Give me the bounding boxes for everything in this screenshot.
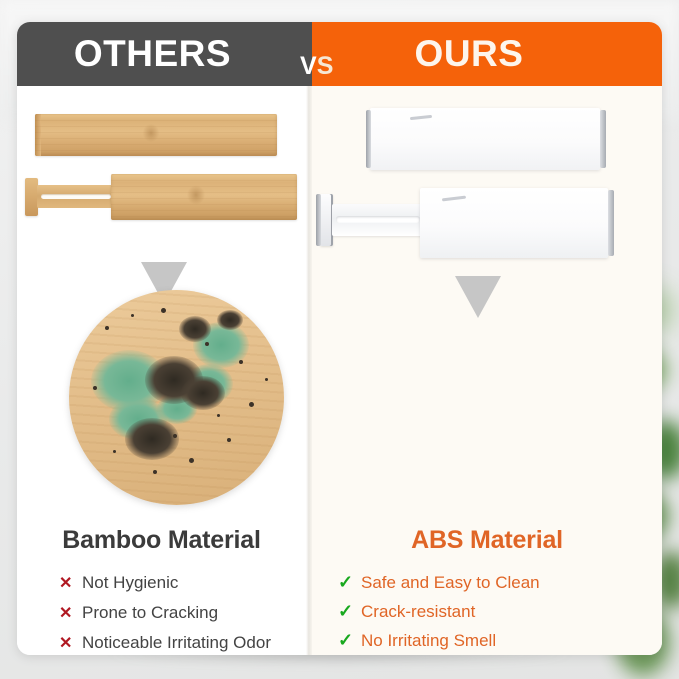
- bamboo-spring-rail: [37, 185, 119, 208]
- ours-heading: ABS Material: [312, 526, 662, 555]
- list-item: ✓ No Irritating Smell: [312, 626, 662, 655]
- bamboo-board: [111, 174, 297, 220]
- check-icon: ✓: [338, 568, 361, 597]
- mold-speck: [265, 378, 268, 381]
- mold-speck: [189, 458, 194, 463]
- abs-end-left: [366, 110, 371, 168]
- bamboo-divider-plain: [35, 114, 277, 156]
- mold-patch-dark: [217, 310, 243, 330]
- abs-end-right: [600, 110, 606, 168]
- vs-badge: VS: [300, 52, 333, 81]
- mold-patch-dark: [125, 418, 179, 460]
- list-item-label: Crack-resistant: [361, 597, 475, 626]
- bamboo-divider-expandable: [25, 174, 297, 220]
- list-item: ✕ Prone to Cracking: [17, 598, 306, 628]
- mold-speck: [161, 308, 166, 313]
- list-item-label: No Irritating Smell: [361, 626, 496, 655]
- comparison-card: OTHERS OURS VS: [17, 22, 662, 655]
- comparison-header: OTHERS OURS: [17, 22, 662, 86]
- others-text-block: Bamboo Material ✕ Not Hygienic ✕ Prone t…: [17, 526, 306, 655]
- bamboo-knot: [183, 181, 209, 209]
- cross-icon: ✕: [59, 599, 82, 628]
- mold-speck: [205, 342, 209, 346]
- moldy-bamboo-photo: [69, 290, 284, 505]
- comparison-body: Bamboo Material ✕ Not Hygienic ✕ Prone t…: [17, 86, 662, 655]
- abs-highlight: [410, 115, 432, 120]
- mold-speck: [93, 386, 97, 390]
- panel-others: Bamboo Material ✕ Not Hygienic ✕ Prone t…: [17, 86, 306, 655]
- header-ours: OURS: [312, 22, 662, 86]
- mold-patch-dark: [181, 376, 225, 410]
- abs-highlight: [442, 196, 466, 202]
- header-ours-label: OURS: [415, 33, 524, 75]
- bamboo-knot: [139, 120, 163, 146]
- others-bullet-list: ✕ Not Hygienic ✕ Prone to Cracking ✕ Not…: [17, 568, 306, 655]
- abs-end-right: [608, 190, 614, 256]
- abs-divider-plain: [370, 108, 600, 170]
- mold-speck: [105, 326, 109, 330]
- check-icon: ✓: [338, 626, 361, 655]
- mold-speck: [239, 360, 243, 364]
- mold-speck: [249, 402, 254, 407]
- mold-speck: [113, 450, 116, 453]
- list-item-label: Noticeable Irritating Odor: [82, 628, 271, 655]
- list-item: ✓ Safe and Easy to Clean: [312, 568, 662, 597]
- pointer-triangle-icon: [455, 276, 501, 318]
- ours-text-block: ABS Material ✓ Safe and Easy to Clean ✓ …: [312, 526, 662, 655]
- list-item: ✕ Not Hygienic: [17, 568, 306, 598]
- mold-speck: [173, 434, 177, 438]
- mold-speck: [131, 314, 134, 317]
- vs-letter-v: V: [300, 52, 317, 80]
- vs-letter-s: S: [317, 52, 334, 80]
- cross-icon: ✕: [59, 569, 82, 598]
- panel-ours: ABS Material ✓ Safe and Easy to Clean ✓ …: [312, 86, 662, 655]
- mold-speck: [153, 470, 157, 474]
- mold-speck: [217, 414, 220, 417]
- header-others-label: OTHERS: [74, 33, 231, 75]
- header-others: OTHERS: [17, 22, 312, 86]
- mold-speck: [227, 438, 231, 442]
- abs-spring-rail: [332, 204, 428, 236]
- others-heading: Bamboo Material: [17, 526, 306, 555]
- mold-patch-dark: [179, 316, 211, 342]
- list-item-label: Prone to Cracking: [82, 598, 218, 627]
- abs-divider-expandable: [320, 188, 615, 258]
- list-item-label: Safe and Easy to Clean: [361, 568, 540, 597]
- check-icon: ✓: [338, 597, 361, 626]
- abs-board: [420, 188, 608, 258]
- cross-icon: ✕: [59, 629, 82, 655]
- list-item: ✕ Noticeable Irritating Odor: [17, 628, 306, 655]
- list-item: ✓ Crack-resistant: [312, 597, 662, 626]
- list-item-label: Not Hygienic: [82, 568, 178, 597]
- ours-bullet-list: ✓ Safe and Easy to Clean ✓ Crack-resista…: [312, 568, 662, 655]
